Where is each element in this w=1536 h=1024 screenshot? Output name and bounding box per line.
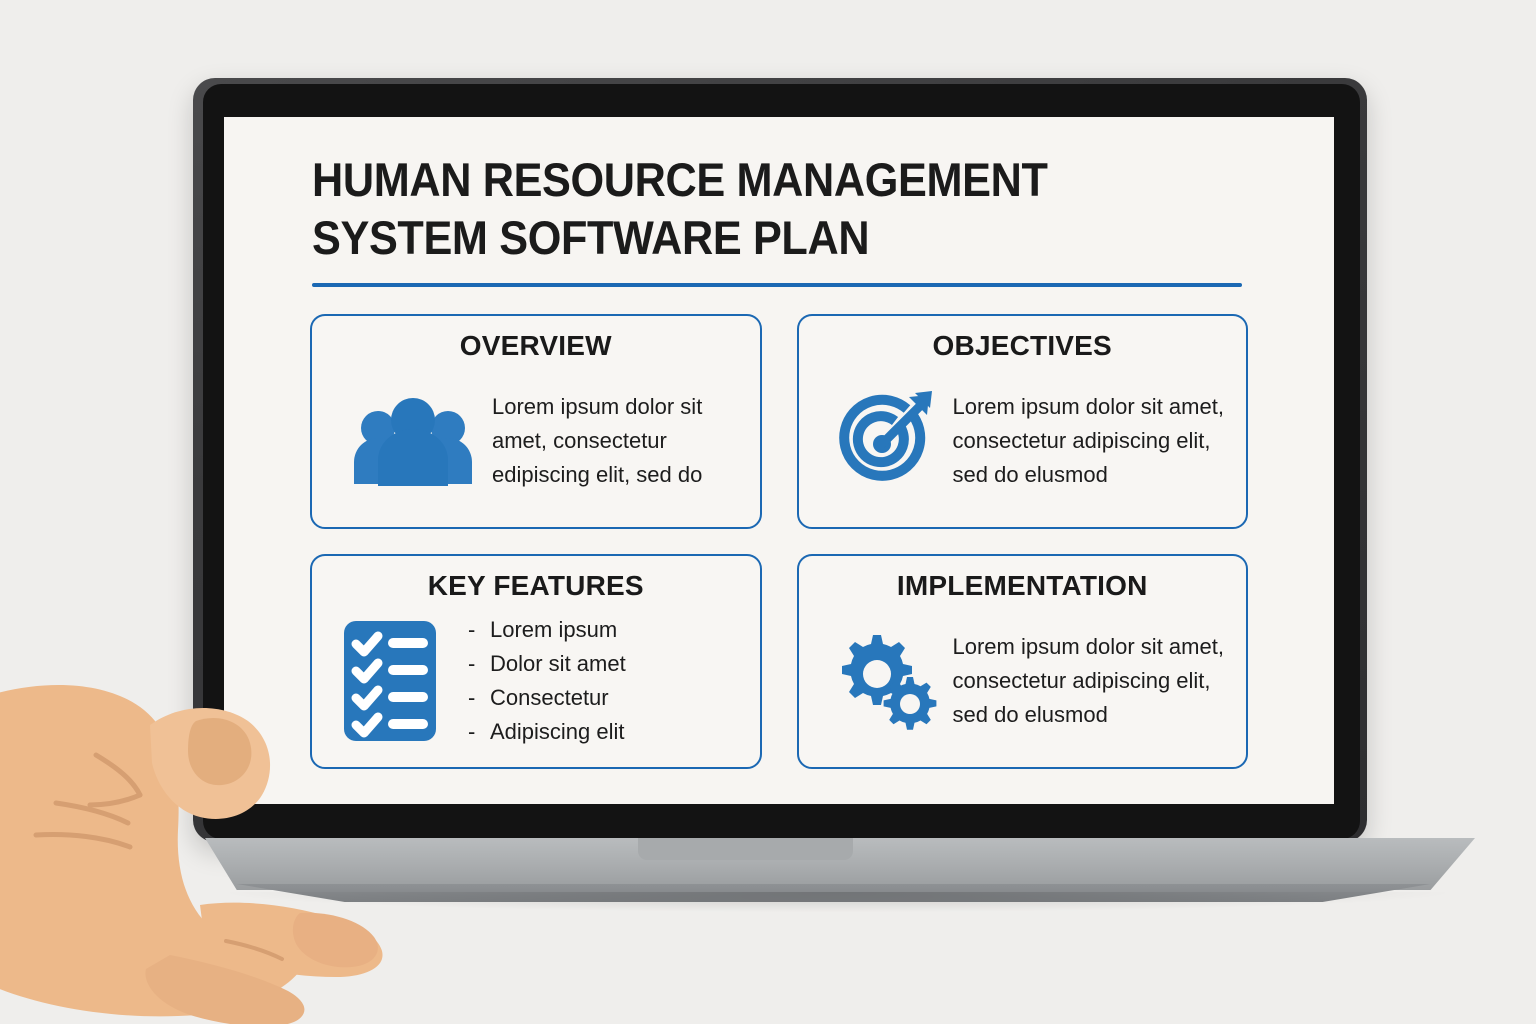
card-text-objectives: Lorem ipsum dolor sit amet, consectetur … bbox=[953, 390, 1231, 492]
hand-holding-laptop bbox=[0, 655, 420, 1024]
list-item-label: Consectetur bbox=[490, 685, 609, 710]
card-overview[interactable]: OVERVIEW bbox=[310, 314, 762, 529]
scene: HUMAN RESOURCE MANAGEMENT SYSTEM SOFTWAR… bbox=[0, 0, 1536, 1024]
bullet-marker: - bbox=[468, 681, 490, 715]
target-arrow-icon bbox=[833, 389, 937, 493]
card-title-implementation: IMPLEMENTATION bbox=[815, 570, 1231, 602]
title-divider bbox=[312, 283, 1242, 287]
laptop-trackpad-notch bbox=[638, 838, 853, 860]
bullet-marker: - bbox=[468, 715, 490, 749]
list-item-label: Adipiscing elit bbox=[490, 719, 625, 744]
slide-title: HUMAN RESOURCE MANAGEMENT SYSTEM SOFTWAR… bbox=[312, 151, 1195, 267]
card-title-objectives: OBJECTIVES bbox=[815, 330, 1231, 362]
bullet-marker: - bbox=[468, 613, 490, 647]
bullet-marker: - bbox=[468, 647, 490, 681]
card-title-key-features: KEY FEATURES bbox=[328, 570, 744, 602]
card-body-objectives: Lorem ipsum dolor sit amet, consectetur … bbox=[815, 368, 1231, 513]
card-text-implementation: Lorem ipsum dolor sit amet, consectetur … bbox=[953, 630, 1231, 732]
list-item: -Adipiscing elit bbox=[468, 715, 626, 749]
gears-icon bbox=[833, 631, 937, 731]
list-item: -Consectetur bbox=[468, 681, 626, 715]
list-item-label: Dolor sit amet bbox=[490, 651, 626, 676]
list-item: -Lorem ipsum bbox=[468, 613, 626, 647]
laptop-device: HUMAN RESOURCE MANAGEMENT SYSTEM SOFTWAR… bbox=[0, 0, 1536, 1024]
card-text-key-features: -Lorem ipsum -Dolor sit amet -Consectetu… bbox=[462, 613, 626, 749]
card-text-overview: Lorem ipsum dolor sit amet, consectetur … bbox=[492, 390, 744, 492]
card-body-overview: Lorem ipsum dolor sit amet, consectetur … bbox=[328, 368, 744, 513]
card-title-overview: OVERVIEW bbox=[328, 330, 744, 362]
list-item: -Dolor sit amet bbox=[468, 647, 626, 681]
card-implementation[interactable]: IMPLEMENTATION bbox=[797, 554, 1249, 769]
card-objectives[interactable]: OBJECTIVES bbox=[797, 314, 1249, 529]
key-features-bullet-list: -Lorem ipsum -Dolor sit amet -Consectetu… bbox=[468, 613, 626, 749]
card-body-implementation: Lorem ipsum dolor sit amet, consectetur … bbox=[815, 608, 1231, 753]
card-grid: OVERVIEW bbox=[310, 314, 1248, 769]
list-item-label: Lorem ipsum bbox=[490, 617, 617, 642]
people-group-icon bbox=[350, 396, 476, 486]
